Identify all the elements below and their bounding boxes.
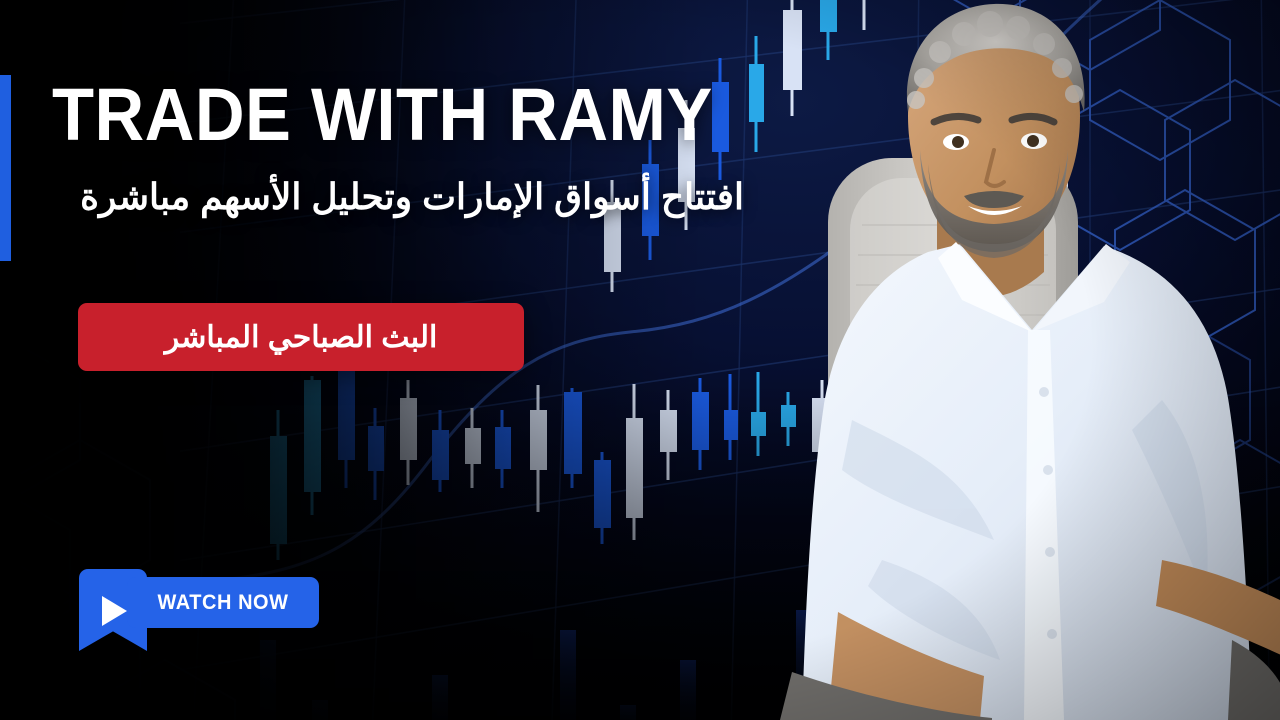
subtitle: افتتاح أسواق الإمارات وتحليل الأسهم مباش…	[54, 176, 744, 218]
live-stream-badge-label: البث الصباحي المباشر	[165, 320, 438, 355]
watch-now-label: WATCH NOW	[157, 591, 288, 615]
thumbnail-canvas: TRADE WITH RAMY افتتاح أسواق الإمارات وت…	[0, 0, 1280, 720]
host-portrait	[732, 0, 1280, 720]
live-stream-badge: البث الصباحي المباشر	[78, 303, 524, 371]
watch-now-button[interactable]: WATCH NOW	[79, 569, 319, 637]
left-accent-bar	[0, 75, 11, 261]
play-icon	[102, 596, 127, 626]
watch-now-pill[interactable]: WATCH NOW	[127, 577, 319, 628]
page-title: TRADE WITH RAMY	[52, 78, 713, 152]
